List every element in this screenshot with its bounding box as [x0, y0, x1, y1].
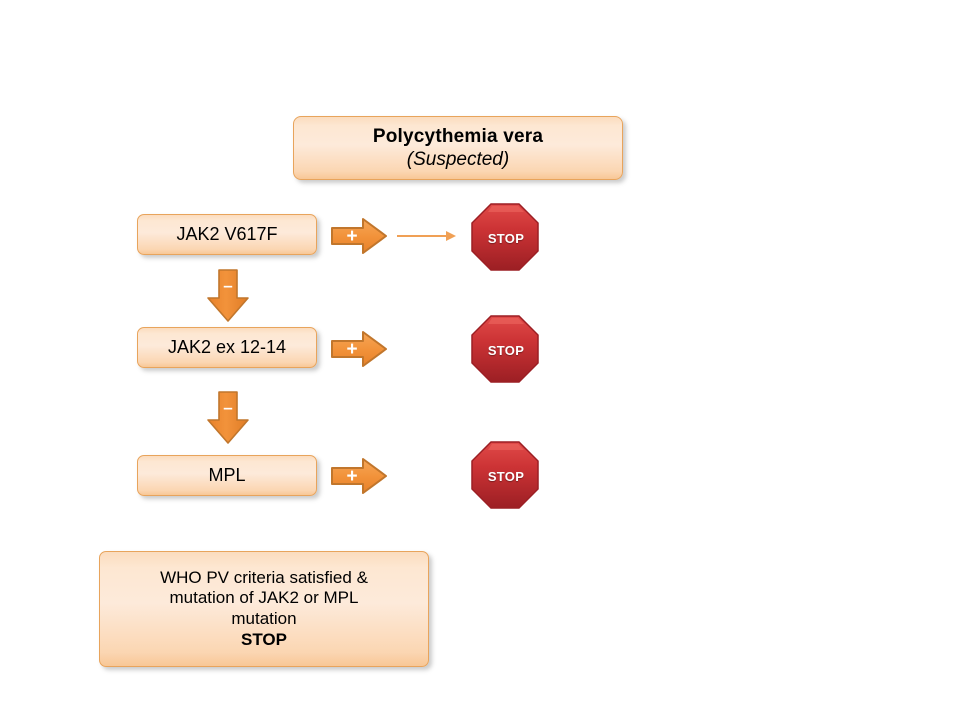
step-box-jak2-v617f: JAK2 V617F: [137, 214, 317, 255]
thin-arrow-icon: [396, 226, 458, 246]
step-box-mpl: MPL: [137, 455, 317, 496]
title-box-sub-label: (Suspected): [407, 148, 509, 171]
right-arrow-plus-icon: +: [330, 456, 388, 496]
right-arrow-plus-icon: +: [330, 216, 388, 256]
octagon-stop-icon: STOP: [470, 202, 542, 274]
step-label: MPL: [208, 465, 245, 487]
down-arrow-minus-icon: –: [204, 390, 252, 446]
diagram-canvas: Polycythemia vera (Suspected) JAK2 V617F…: [0, 0, 960, 720]
right-arrow-plus-icon: +: [330, 329, 388, 369]
final-box-stop-label: STOP: [241, 630, 287, 651]
octagon-stop-icon: STOP: [470, 440, 542, 512]
octagon-stop-icon: STOP: [470, 314, 542, 386]
step-box-jak2-ex-12-14: JAK2 ex 12-14: [137, 327, 317, 368]
final-box-line-3: mutation: [231, 609, 296, 630]
down-arrow-minus-icon: –: [204, 268, 252, 324]
step-label: JAK2 V617F: [176, 224, 277, 246]
title-box-main-label: Polycythemia vera: [373, 125, 543, 148]
step-label: JAK2 ex 12-14: [168, 337, 286, 359]
title-box-polycythemia-vera: Polycythemia vera (Suspected): [293, 116, 623, 180]
final-outcome-box: WHO PV criteria satisfied & mutation of …: [99, 551, 429, 667]
final-box-line-1: WHO PV criteria satisfied &: [160, 568, 368, 589]
final-box-line-2: mutation of JAK2 or MPL: [170, 588, 359, 609]
